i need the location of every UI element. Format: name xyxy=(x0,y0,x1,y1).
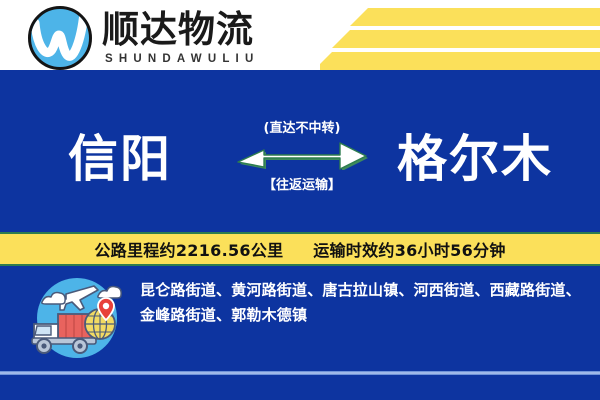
distance-value: 公路里程约2216.56公里 xyxy=(94,241,283,260)
truck-plane-globe-icon xyxy=(22,274,132,362)
duration-value: 运输时效约36小时56分钟 xyxy=(313,241,505,260)
roundtrip-note: 【往返运输】 xyxy=(263,174,341,193)
double-headed-arrow-icon xyxy=(236,140,368,170)
brand-logo: 顺达物流 SHUNDAWULIU xyxy=(28,6,259,70)
shunda-swoosh-logo-icon xyxy=(28,6,92,70)
stats-bar: 公路里程约2216.56公里 运输时效约36小时56分钟 xyxy=(0,232,600,266)
stats-text: 公路里程约2216.56公里 运输时效约36小时56分钟 xyxy=(94,237,505,261)
logistics-route-poster: 顺达物流 SHUNDAWULIU 信阳 (直达不中转) 【往返运输】 格尔木 xyxy=(0,0,600,400)
coverage-areas-list: 昆仑路街道、黄河路街道、唐古拉山镇、河西街道、西藏路街道、金峰路街道、郭勒木德镇 xyxy=(140,278,584,328)
swoosh-glyph xyxy=(28,6,92,70)
poster-header: 顺达物流 SHUNDAWULIU xyxy=(0,0,600,70)
yellow-stripes-decoration xyxy=(320,0,600,70)
route-row: 信阳 (直达不中转) 【往返运输】 格尔木 xyxy=(0,100,600,210)
origin-city: 信阳 xyxy=(0,100,240,210)
destination-city: 格尔木 xyxy=(350,100,600,210)
brand-name-en: SHUNDAWULIU xyxy=(105,54,259,66)
brand-text: 顺达物流 SHUNDAWULIU xyxy=(102,11,259,66)
brand-name-cn: 顺达物流 xyxy=(102,11,259,48)
route-middle: (直达不中转) 【往返运输】 xyxy=(236,100,368,210)
footer-divider xyxy=(0,371,600,375)
coverage-row: 昆仑路街道、黄河路街道、唐古拉山镇、河西街道、西藏路街道、金峰路街道、郭勒木德镇 xyxy=(0,272,600,362)
direct-service-note: (直达不中转) xyxy=(264,117,341,136)
